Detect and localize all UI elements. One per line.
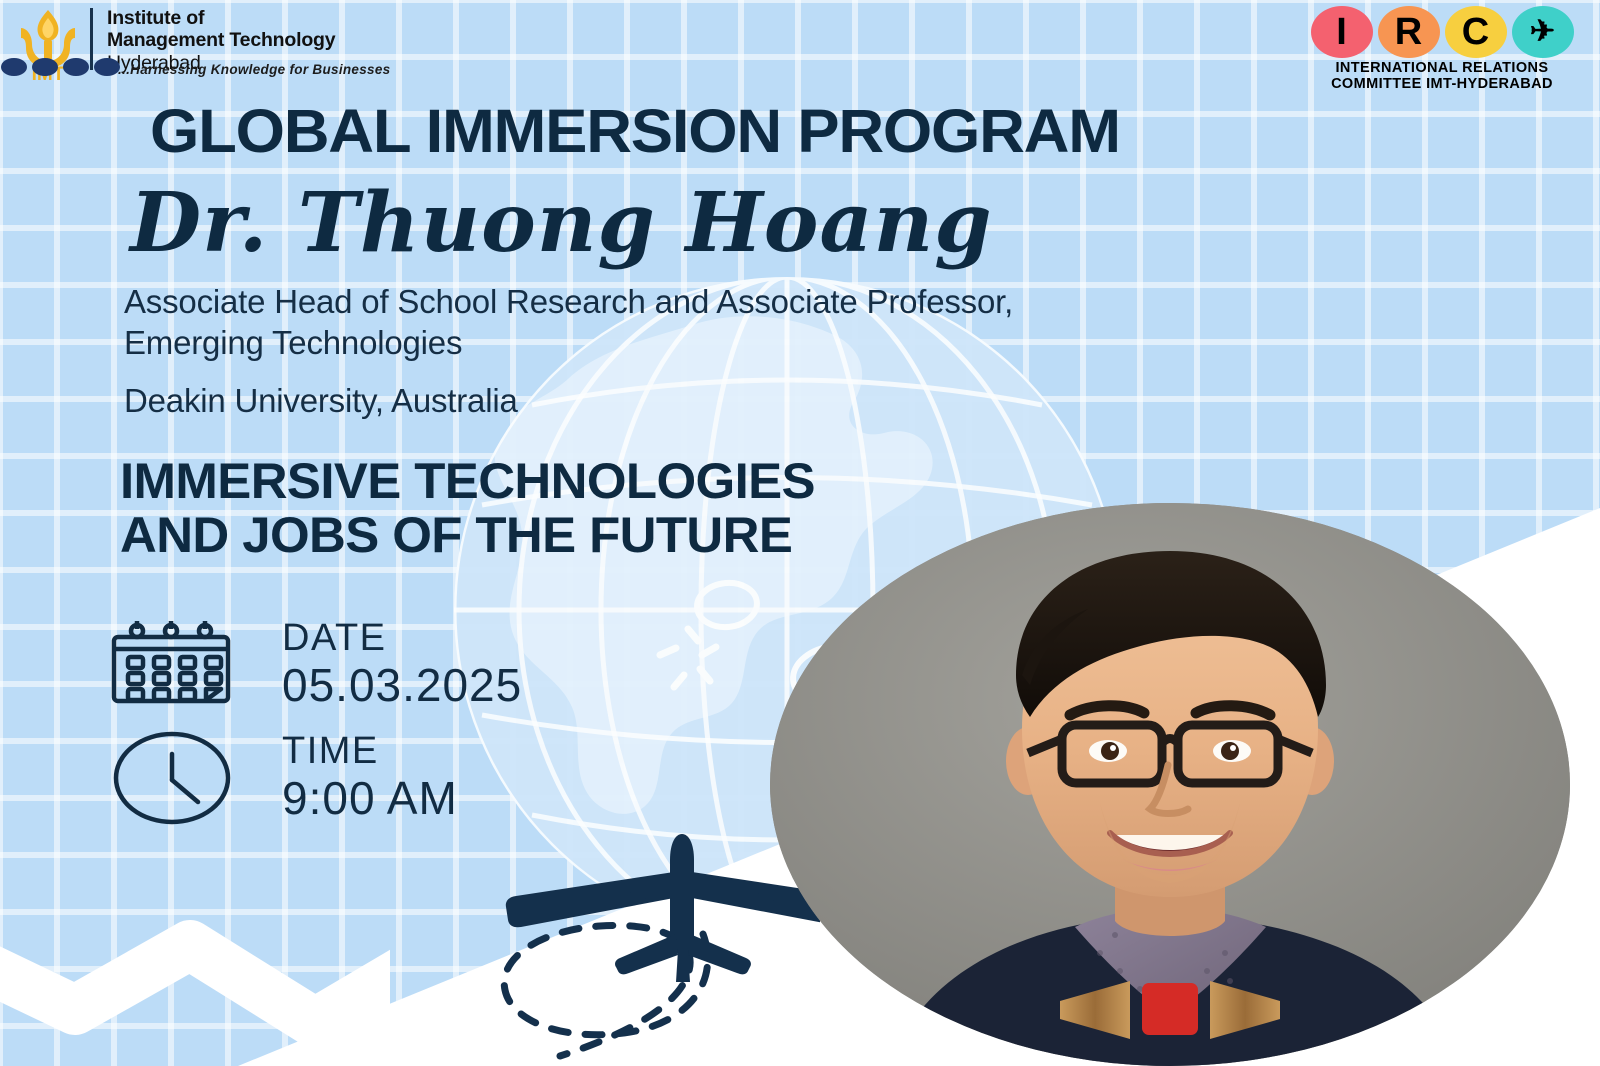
time-value: 9:00 AM: [282, 773, 458, 825]
speaker-role: Associate Head of School Research and As…: [124, 282, 1134, 364]
time-label: TIME: [282, 731, 458, 773]
imt-dots-decoration: [0, 52, 120, 82]
irc-letter-i: I: [1336, 13, 1347, 51]
irc-logo: I R C ✈ INTERNATIONAL RELATIONS COMMITTE…: [1292, 6, 1592, 90]
date-value: 05.03.2025: [282, 660, 522, 712]
irc-chip-r: R: [1378, 6, 1440, 58]
irc-subtitle: INTERNATIONAL RELATIONS COMMITTEE IMT-HY…: [1331, 61, 1553, 92]
calendar-icon: [110, 615, 240, 715]
imt-tagline: ...Harnessing Knowledge for Businesses: [118, 62, 390, 77]
speaker-affiliation: Deakin University, Australia: [124, 382, 518, 420]
clock-icon: [110, 728, 240, 828]
talk-title-line2: AND JOBS OF THE FUTURE: [120, 509, 815, 563]
event-poster: IMT Institute of Management Technology H…: [0, 0, 1600, 1066]
time-text: TIME 9:00 AM: [282, 731, 458, 824]
irc-chip-plane: ✈: [1512, 6, 1574, 58]
irc-subtitle-line2: COMMITTEE IMT-HYDERABAD: [1331, 77, 1553, 93]
irc-subtitle-line1: INTERNATIONAL RELATIONS: [1331, 61, 1553, 77]
portrait-illustration: [770, 503, 1570, 1066]
imt-name-line2: Management Technology: [107, 30, 335, 52]
irc-letter-r: R: [1395, 13, 1422, 51]
speaker-name: Dr. Thuong Hoang: [130, 175, 993, 271]
date-label: DATE: [282, 618, 522, 660]
irc-letter-c: C: [1462, 13, 1489, 51]
speaker-portrait: [770, 503, 1570, 1066]
imt-name-line1: Institute of: [107, 8, 335, 30]
talk-title: IMMERSIVE TECHNOLOGIES AND JOBS OF THE F…: [120, 455, 815, 562]
irc-chip-c: C: [1445, 6, 1507, 58]
date-row: DATE 05.03.2025: [110, 615, 522, 715]
date-text: DATE 05.03.2025: [282, 618, 522, 711]
irc-chip-i: I: [1311, 6, 1373, 58]
airplane-icon: ✈: [1530, 17, 1555, 47]
program-title: GLOBAL IMMERSION PROGRAM: [150, 96, 1120, 166]
talk-title-line1: IMMERSIVE TECHNOLOGIES: [120, 455, 815, 509]
time-row: TIME 9:00 AM: [110, 728, 458, 828]
irc-letter-chips: I R C ✈: [1311, 6, 1574, 58]
